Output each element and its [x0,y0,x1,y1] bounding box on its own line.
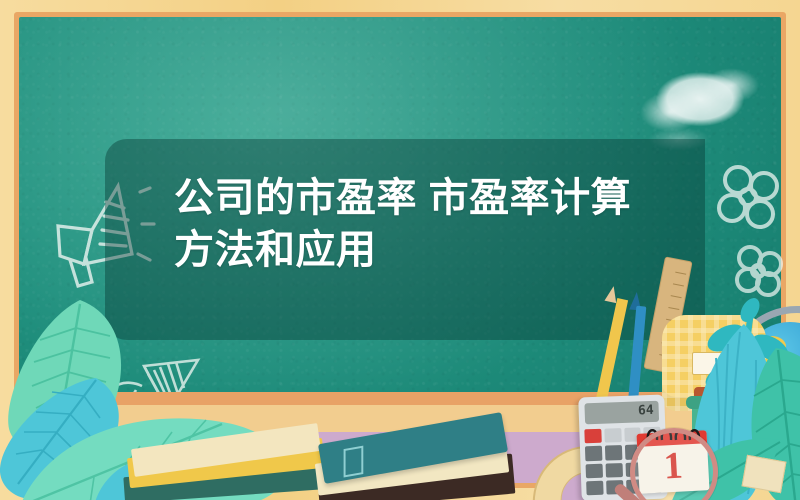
calculator-key-1[interactable] [604,428,621,443]
calculator-key-plus[interactable] [586,480,603,495]
calculator-key-5[interactable] [605,445,622,460]
title-line-1: 公司的市盈率 市盈率计算 [174,172,674,224]
calculator-display-value: 64 [638,403,654,419]
calculator-screen: 64 [584,401,659,425]
poster-canvas: 公司的市盈率 市盈率计算 方法和应用 [0,0,800,500]
calculator-key-ac[interactable] [584,429,601,444]
flower-icon [708,158,792,242]
calculator-key-8[interactable] [586,463,603,478]
flower-icon-small [726,238,792,304]
paper-scrap-2 [742,455,787,493]
title-line-2: 方法和应用 [174,224,674,276]
book-emblem [344,446,364,478]
calculator-key-4[interactable] [585,446,602,461]
calculator-key-9[interactable] [605,463,622,478]
page-title: 公司的市盈率 市盈率计算 方法和应用 [174,172,674,276]
